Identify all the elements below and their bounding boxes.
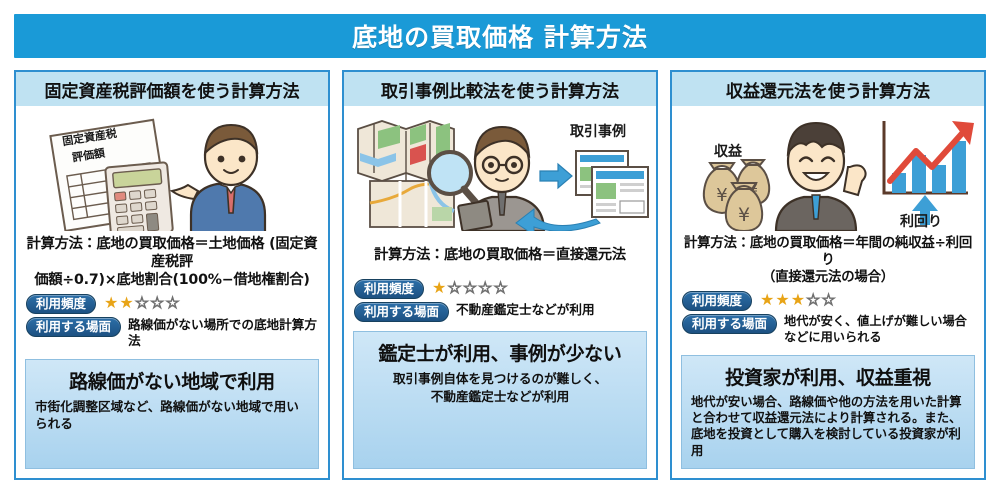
card-footer: 鑑定士が利用、事例が少ない 取引事例自体を見つけるのが難しく、 不動産鑑定士など… [353,331,647,469]
frequency-label: 利用頻度 [682,291,752,311]
method-card-fixed-asset-tax: 固定資産税評価額を使う計算方法 [14,70,330,480]
footer-title: 投資家が利用、収益重視 [691,363,965,390]
card-meta: 利用頻度 ★★★☆☆ 利用する場面 地代が安く、値上げが難しい場合などに用いられ… [672,289,984,349]
transaction-cases-caption: 取引事例 [570,121,626,141]
investor-figure [776,123,866,231]
frequency-row: 利用頻度 ★★★☆☆ [682,291,976,311]
formula-line-1: 計算方法：底地の買取価格＝年間の純収益÷利回り [684,236,972,268]
page-title-bar: 底地の買取価格 計算方法 [14,14,986,58]
situation-label: 利用する場面 [354,302,449,322]
footer-body: 市街化調整区域など、路線価がない地域で用いられる [35,398,309,433]
svg-text:¥: ¥ [738,204,750,226]
footer-title: 鑑定士が利用、事例が少ない [363,339,637,366]
card-header: 固定資産税評価額を使う計算方法 [16,72,328,107]
formula-text: 計算方法：底地の買取価格＝直接還元法 [344,231,656,267]
frequency-row: 利用頻度 ★☆☆☆☆ [354,279,648,299]
svg-text:¥: ¥ [716,185,727,206]
frequency-stars: ★★☆☆☆ [104,294,181,312]
card-header: 収益還元法を使う計算方法 [672,72,984,107]
frequency-label: 利用頻度 [26,294,96,314]
money-bag-icons: ¥ ¥ ¥ [704,160,769,231]
infographic-page: 底地の買取価格 計算方法 固定資産税評価額を使う計算方法 [0,0,1000,493]
situation-label: 利用する場面 [682,314,777,334]
formula-line-1: 計算方法：底地の買取価格＝土地価格 (固定資産税評 [27,236,318,270]
frequency-stars: ★★★☆☆ [760,291,837,309]
formula-line-2: 価額÷0.7)×底地割合(100%−借地権割合) [22,272,322,290]
page-title: 底地の買取価格 計算方法 [352,18,648,54]
card-title: 収益還元法を使う計算方法 [726,77,930,102]
formula-line-2: （直接還元法の場合） [678,270,978,287]
situation-text: 地代が安く、値上げが難しい場合などに用いられる [784,314,976,346]
illustration-tax-valuation: 固定資産税 評価額 [16,107,328,231]
method-card-income-capitalization: 収益還元法を使う計算方法 ¥ ¥ [670,70,986,480]
situation-row: 利用する場面 不動産鑑定士などが利用 [354,302,648,322]
situation-text: 路線価がない場所での底地計算方法 [128,317,320,350]
card-header: 取引事例比較法を使う計算方法 [344,72,656,107]
method-columns: 固定資産税評価額を使う計算方法 [14,70,986,480]
frequency-row: 利用頻度 ★★☆☆☆ [26,294,320,314]
yield-caption: 利回り [900,211,942,231]
formula-text: 計算方法：底地の買取価格＝年間の純収益÷利回り （直接還元法の場合） [672,231,984,289]
card-footer: 投資家が利用、収益重視 地代が安い場合、路線価や他の方法を用いた計算と合わせて収… [681,355,975,469]
illustration-income-yield: ¥ ¥ ¥ [672,107,984,231]
card-title: 固定資産税評価額を使う計算方法 [45,77,300,102]
situation-row: 利用する場面 地代が安く、値上げが難しい場合などに用いられる [682,314,976,346]
income-caption: 収益 [714,141,742,161]
method-card-transaction-comparison: 取引事例比較法を使う計算方法 [342,70,658,480]
illustration-transaction-cases: 取引事例 [344,107,656,231]
card-meta: 利用頻度 ★★☆☆☆ 利用する場面 路線価がない場所での底地計算方法 [16,292,328,353]
card-title: 取引事例比較法を使う計算方法 [381,77,619,102]
footer-title: 路線価がない地域で利用 [35,367,309,394]
situation-label: 利用する場面 [26,317,121,337]
growth-bar-chart [884,121,974,193]
situation-row: 利用する場面 路線価がない場所での底地計算方法 [26,317,320,350]
illustration-svg [16,107,328,231]
frequency-label: 利用頻度 [354,279,424,299]
case-documents [576,151,648,217]
footer-body: 取引事例自体を見つけるのが難しく、 不動産鑑定士などが利用 [363,370,637,405]
frequency-stars: ★☆☆☆☆ [432,279,509,297]
card-meta: 利用頻度 ★☆☆☆☆ 利用する場面 不動産鑑定士などが利用 [344,267,656,325]
formula-line-1: 計算方法：底地の買取価格＝直接還元法 [374,247,626,263]
situation-text: 不動産鑑定士などが利用 [456,302,595,318]
footer-body: 地代が安い場合、路線価や他の方法を用いた計算と合わせて収益還元法により計算される… [691,394,965,460]
formula-text: 計算方法：底地の買取価格＝土地価格 (固定資産税評 価額÷0.7)×底地割合(1… [16,231,328,292]
arrow-right-icon [540,164,572,188]
card-footer: 路線価がない地域で利用 市街化調整区域など、路線価がない地域で用いられる [25,359,319,469]
